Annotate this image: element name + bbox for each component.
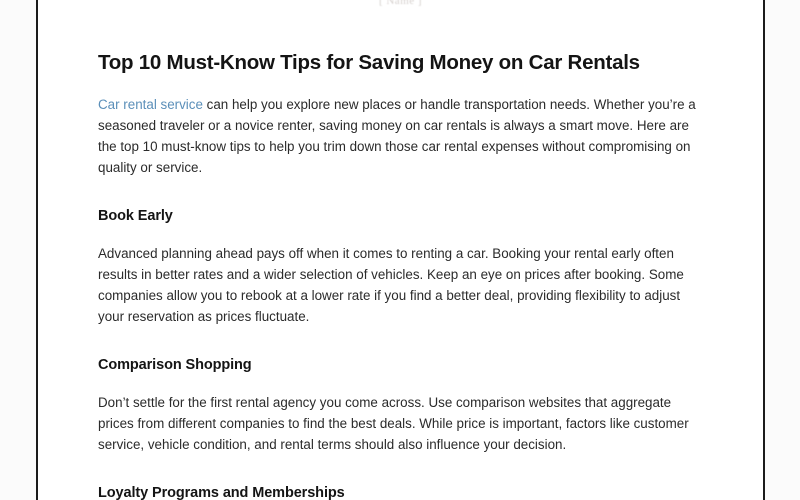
page-title: Top 10 Must-Know Tips for Saving Money o… [98, 0, 702, 76]
document-viewport: [ Name ] Top 10 Must-Know Tips for Savin… [0, 0, 800, 500]
page-gutter-left [0, 0, 36, 500]
section-body-book-early: Advanced planning ahead pays off when it… [98, 226, 702, 327]
car-rental-service-link[interactable]: Car rental service [98, 97, 203, 112]
section-comparison-shopping: Comparison Shopping Don’t settle for the… [98, 327, 702, 455]
page-border-rule-right [763, 0, 765, 500]
document-page: [ Name ] Top 10 Must-Know Tips for Savin… [38, 0, 763, 500]
section-body-comparison-shopping: Don’t settle for the first rental agency… [98, 375, 702, 455]
section-loyalty-programs: Loyalty Programs and Memberships [98, 455, 702, 500]
section-heading-comparison-shopping: Comparison Shopping [98, 327, 702, 375]
section-book-early: Book Early Advanced planning ahead pays … [98, 178, 702, 327]
section-heading-book-early: Book Early [98, 178, 702, 226]
section-heading-loyalty-programs: Loyalty Programs and Memberships [98, 455, 702, 500]
page-gutter-right [765, 0, 800, 500]
document-content: Top 10 Must-Know Tips for Saving Money o… [98, 0, 702, 500]
lede-paragraph: Car rental service can help you explore … [98, 76, 702, 178]
